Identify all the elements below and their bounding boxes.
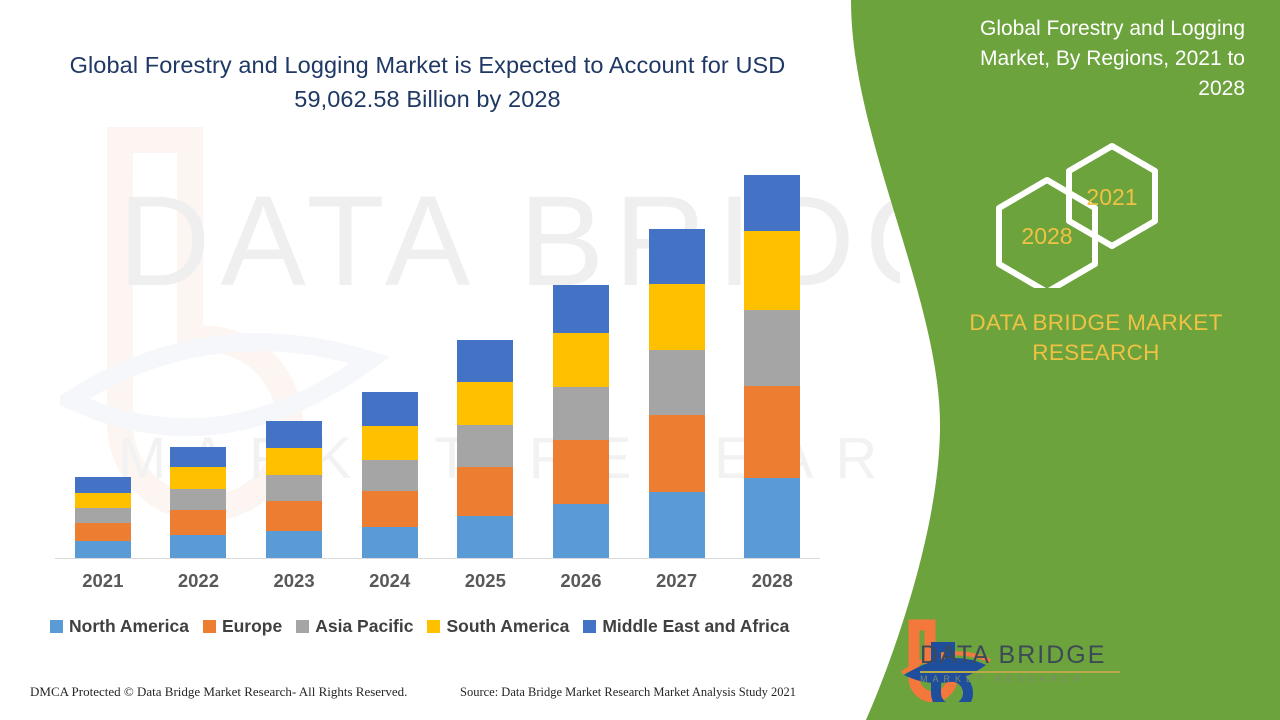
legend-label: Asia Pacific	[315, 616, 413, 637]
bar-stack	[649, 229, 705, 559]
bar-segment	[170, 510, 226, 536]
x-tick-label-2021: 2021	[58, 570, 148, 592]
legend-item[interactable]: North America	[50, 616, 189, 637]
bar-segment	[457, 516, 513, 559]
bar-stack	[266, 421, 322, 559]
x-tick-label-2024: 2024	[345, 570, 435, 592]
bar-segment	[744, 478, 800, 559]
bar-segment	[75, 477, 131, 492]
bar-segment	[266, 501, 322, 532]
bar-segment	[75, 508, 131, 523]
bar-stack	[362, 392, 418, 559]
bar-segment	[553, 387, 609, 440]
bar-segment	[744, 386, 800, 478]
bar-segment	[362, 426, 418, 460]
x-tick-label-2027: 2027	[632, 570, 722, 592]
hexagon-outlines-icon	[992, 138, 1192, 288]
legend-label: South America	[446, 616, 569, 637]
legend-item[interactable]: South America	[427, 616, 569, 637]
logo-word-top: DATA BRIDGE	[920, 643, 1120, 668]
bar-segment	[75, 541, 131, 559]
bar-segment	[362, 392, 418, 426]
legend-swatch-icon	[296, 620, 309, 633]
legend-label: North America	[69, 616, 189, 637]
watermark-logo-b-icon	[60, 100, 390, 530]
bar-segment	[553, 285, 609, 333]
x-tick-label-2025: 2025	[440, 570, 530, 592]
bar-segment	[266, 421, 322, 448]
footer-copyright: DMCA Protected © Data Bridge Market Rese…	[30, 684, 407, 700]
bar-segment	[75, 523, 131, 540]
x-tick-label-2028: 2028	[727, 570, 817, 592]
bar-stack	[170, 447, 226, 559]
bar-segment	[744, 231, 800, 310]
legend-swatch-icon	[427, 620, 440, 633]
bar-segment	[457, 382, 513, 425]
watermark-text-top: DATA BRIDGE	[118, 178, 898, 306]
chart-legend: North AmericaEuropeAsia PacificSouth Ame…	[50, 616, 840, 637]
logo-word-bottom: MARKET RESEARCH	[920, 675, 1120, 684]
chart-plot-area	[55, 150, 820, 559]
bar-segment	[170, 489, 226, 509]
bar-segment	[649, 492, 705, 559]
legend-item[interactable]: Middle East and Africa	[583, 616, 789, 637]
legend-swatch-icon	[203, 620, 216, 633]
bar-segment	[744, 310, 800, 387]
bar-segment	[649, 229, 705, 284]
hexagon-label-2028: 2028	[1002, 223, 1092, 250]
bar-segment	[266, 475, 322, 501]
bar-segment	[362, 527, 418, 559]
panel-title: Global Forestry and Logging Market, By R…	[945, 14, 1245, 103]
legend-swatch-icon	[583, 620, 596, 633]
year-hexagons: 2021 2028	[992, 138, 1192, 288]
bar-segment	[75, 493, 131, 508]
x-tick-label-2022: 2022	[153, 570, 243, 592]
legend-label: Europe	[222, 616, 282, 637]
bar-segment	[649, 284, 705, 350]
hexagon-label-2021: 2021	[1067, 184, 1157, 211]
x-axis-line	[55, 558, 820, 559]
bar-segment	[362, 460, 418, 491]
legend-label: Middle East and Africa	[602, 616, 789, 637]
legend-item[interactable]: Europe	[203, 616, 282, 637]
logo-wordmark: DATA BRIDGE MARKET RESEARCH	[920, 643, 1120, 684]
x-tick-label-2026: 2026	[536, 570, 626, 592]
bar-segment	[170, 447, 226, 467]
bar-segment	[170, 535, 226, 559]
bar-segment	[457, 340, 513, 382]
green-panel-content: Global Forestry and Logging Market, By R…	[880, 0, 1280, 720]
watermark-text-bottom: MARKET RESEARCH	[118, 430, 900, 488]
bar-segment	[170, 467, 226, 489]
brand-name: DATA BRIDGE MARKET RESEARCH	[946, 308, 1246, 369]
bar-segment	[457, 425, 513, 467]
bar-segment	[457, 467, 513, 516]
bar-segment	[649, 415, 705, 492]
bar-stack	[553, 285, 609, 559]
legend-swatch-icon	[50, 620, 63, 633]
bar-segment	[553, 504, 609, 559]
legend-item[interactable]: Asia Pacific	[296, 616, 413, 637]
chart-panel: DATA BRIDGE MARKET RESEARCH Global Fores…	[0, 0, 900, 720]
bar-segment	[553, 333, 609, 387]
bar-segment	[744, 175, 800, 231]
bar-segment	[649, 350, 705, 414]
bar-segment	[266, 448, 322, 476]
footer-source: Source: Data Bridge Market Research Mark…	[460, 685, 796, 700]
bar-stack	[744, 175, 800, 559]
x-tick-label-2023: 2023	[249, 570, 339, 592]
bar-segment	[362, 491, 418, 528]
bar-stack	[457, 340, 513, 559]
bar-stack	[75, 477, 131, 559]
bar-segment	[266, 531, 322, 559]
logo-word-divider	[920, 671, 1120, 673]
bar-segment	[553, 440, 609, 503]
page-title: Global Forestry and Logging Market is Ex…	[55, 48, 800, 116]
